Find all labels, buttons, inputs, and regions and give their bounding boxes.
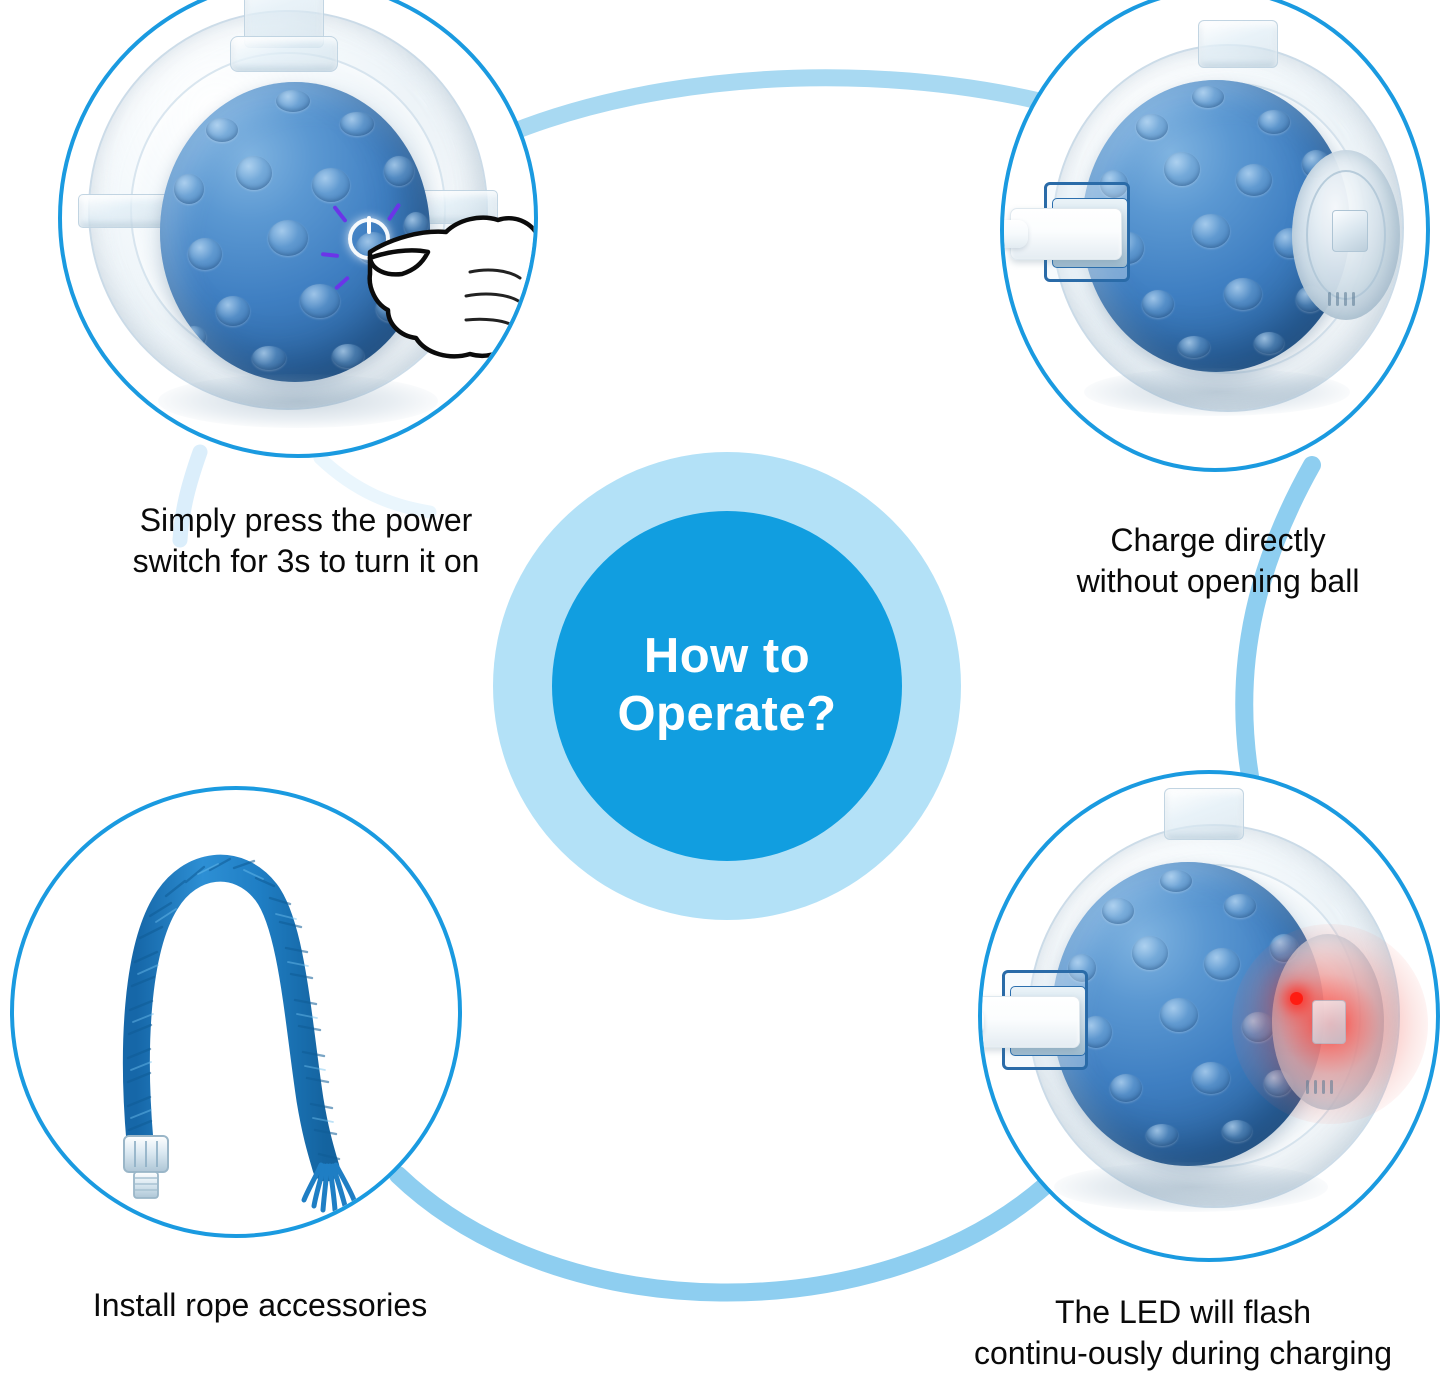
install-rope-illustration xyxy=(14,790,458,1234)
charge-directly-illustration xyxy=(1004,0,1426,468)
caption-power-on: Simply press the power switch for 3s to … xyxy=(96,500,516,582)
step-panel-charge-directly[interactable] xyxy=(1000,0,1430,472)
usb-cable xyxy=(1004,220,1028,248)
led-charging-illustration xyxy=(982,774,1436,1258)
center-badge: How to Operate? xyxy=(493,452,961,920)
usb-plug-icon[interactable] xyxy=(982,996,1080,1048)
infographic-canvas: How to Operate? Simply press the power s… xyxy=(0,0,1445,1376)
power-on-illustration xyxy=(62,0,534,454)
vent-slot xyxy=(1328,292,1331,306)
top-knob xyxy=(1164,788,1244,840)
caption-install-rope: Install rope accessories xyxy=(40,1285,480,1326)
ball-shadow xyxy=(1084,368,1350,416)
ball-shadow xyxy=(1054,1162,1328,1212)
top-knob-collar xyxy=(230,36,338,72)
top-knob xyxy=(1198,20,1278,68)
pointing-hand-icon xyxy=(362,208,534,388)
vent-slot xyxy=(1352,292,1355,306)
rope-icon xyxy=(14,790,458,1234)
step-panel-power-on[interactable] xyxy=(58,0,538,458)
caption-led-charging: The LED will flash continu-ously during … xyxy=(928,1292,1438,1374)
vent-slot xyxy=(1306,1080,1309,1094)
vent-slot xyxy=(1314,1080,1317,1094)
red-led-icon xyxy=(1290,992,1303,1005)
vent-slot xyxy=(1322,1080,1325,1094)
left-bracket xyxy=(78,194,170,228)
internal-disc-hub xyxy=(1332,210,1368,252)
connector-bottom xyxy=(398,1175,1046,1293)
step-panel-led-charging[interactable] xyxy=(978,770,1440,1262)
vent-slot xyxy=(1330,1080,1333,1094)
caption-charge-directly: Charge directly without opening ball xyxy=(1018,520,1418,602)
center-core-circle: How to Operate? xyxy=(552,511,902,861)
step-panel-install-rope[interactable] xyxy=(10,786,462,1238)
page-title: How to Operate? xyxy=(552,628,902,744)
ball-shadow xyxy=(158,374,438,428)
internal-disc-hub xyxy=(1312,1000,1346,1044)
vent-slot xyxy=(1336,292,1339,306)
vent-slot xyxy=(1344,292,1347,306)
